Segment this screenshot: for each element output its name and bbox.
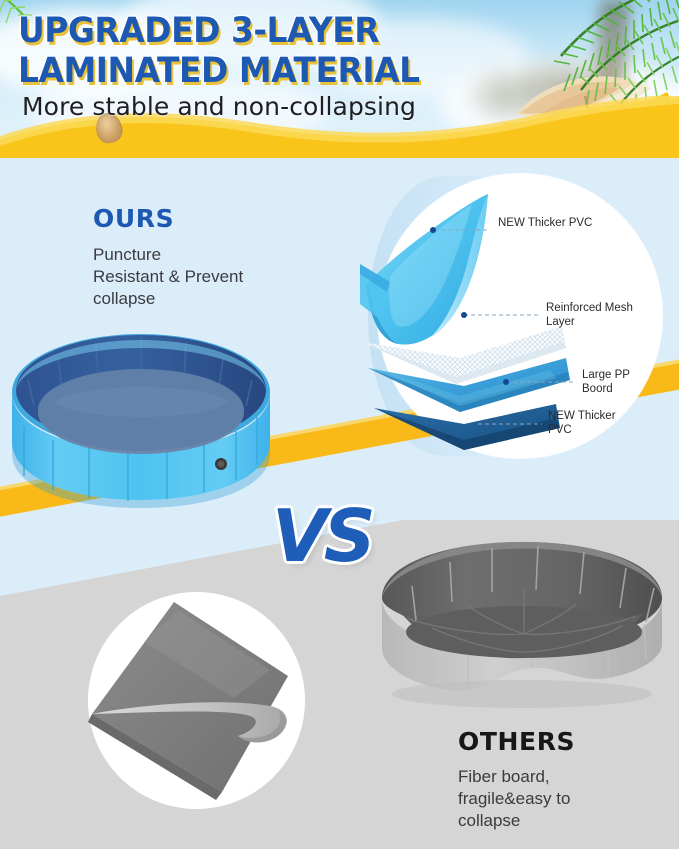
ours-description: Puncture Resistant & Prevent collapse <box>93 244 243 310</box>
product-comparison-infographic: UPGRADED 3-LAYER LAMINATED MATERIAL More… <box>0 0 679 849</box>
callout-marker-icon <box>430 227 436 233</box>
title-line-1: UPGRADED 3-LAYER <box>18 14 507 49</box>
callout-marker-icon <box>461 312 467 318</box>
callout-label: NEW Thicker PVC <box>548 409 616 437</box>
others-description-line: collapse <box>458 810 575 832</box>
ours-description-line: Resistant & Prevent <box>93 266 243 288</box>
page-title: UPGRADED 3-LAYER LAMINATED MATERIAL <box>18 14 538 89</box>
ours-text-block: OURS Puncture Resistant & Prevent collap… <box>93 204 243 310</box>
others-text-block: OTHERS Fiber board, fragile&easy to coll… <box>458 727 575 832</box>
callout-label: Reinforced Mesh Layer <box>546 301 633 329</box>
others-pool-illustration <box>372 528 672 720</box>
title-line-2: LAMINATED MATERIAL <box>18 54 507 89</box>
others-description-line: Fiber board, <box>458 766 575 788</box>
others-description-line: fragile&easy to <box>458 788 575 810</box>
layer-callouts: NEW Thicker PVC Reinforced Mesh Layer La… <box>360 172 679 462</box>
callout-marker-icon <box>503 379 509 385</box>
vs-badge: VS <box>272 500 372 572</box>
page-subtitle: More stable and non-collapsing <box>22 92 416 121</box>
ours-description-line: Puncture <box>93 244 243 266</box>
ours-heading: OURS <box>93 204 243 233</box>
ours-pool-illustration <box>4 330 278 508</box>
others-description: Fiber board, fragile&easy to collapse <box>458 766 575 832</box>
callout-label: NEW Thicker PVC <box>498 216 592 230</box>
ours-description-line: collapse <box>93 288 243 310</box>
drain-plug-icon <box>215 458 227 470</box>
others-heading: OTHERS <box>458 727 575 756</box>
callout-label: Large PP Boord <box>582 368 630 396</box>
others-material-illustration <box>74 580 320 820</box>
